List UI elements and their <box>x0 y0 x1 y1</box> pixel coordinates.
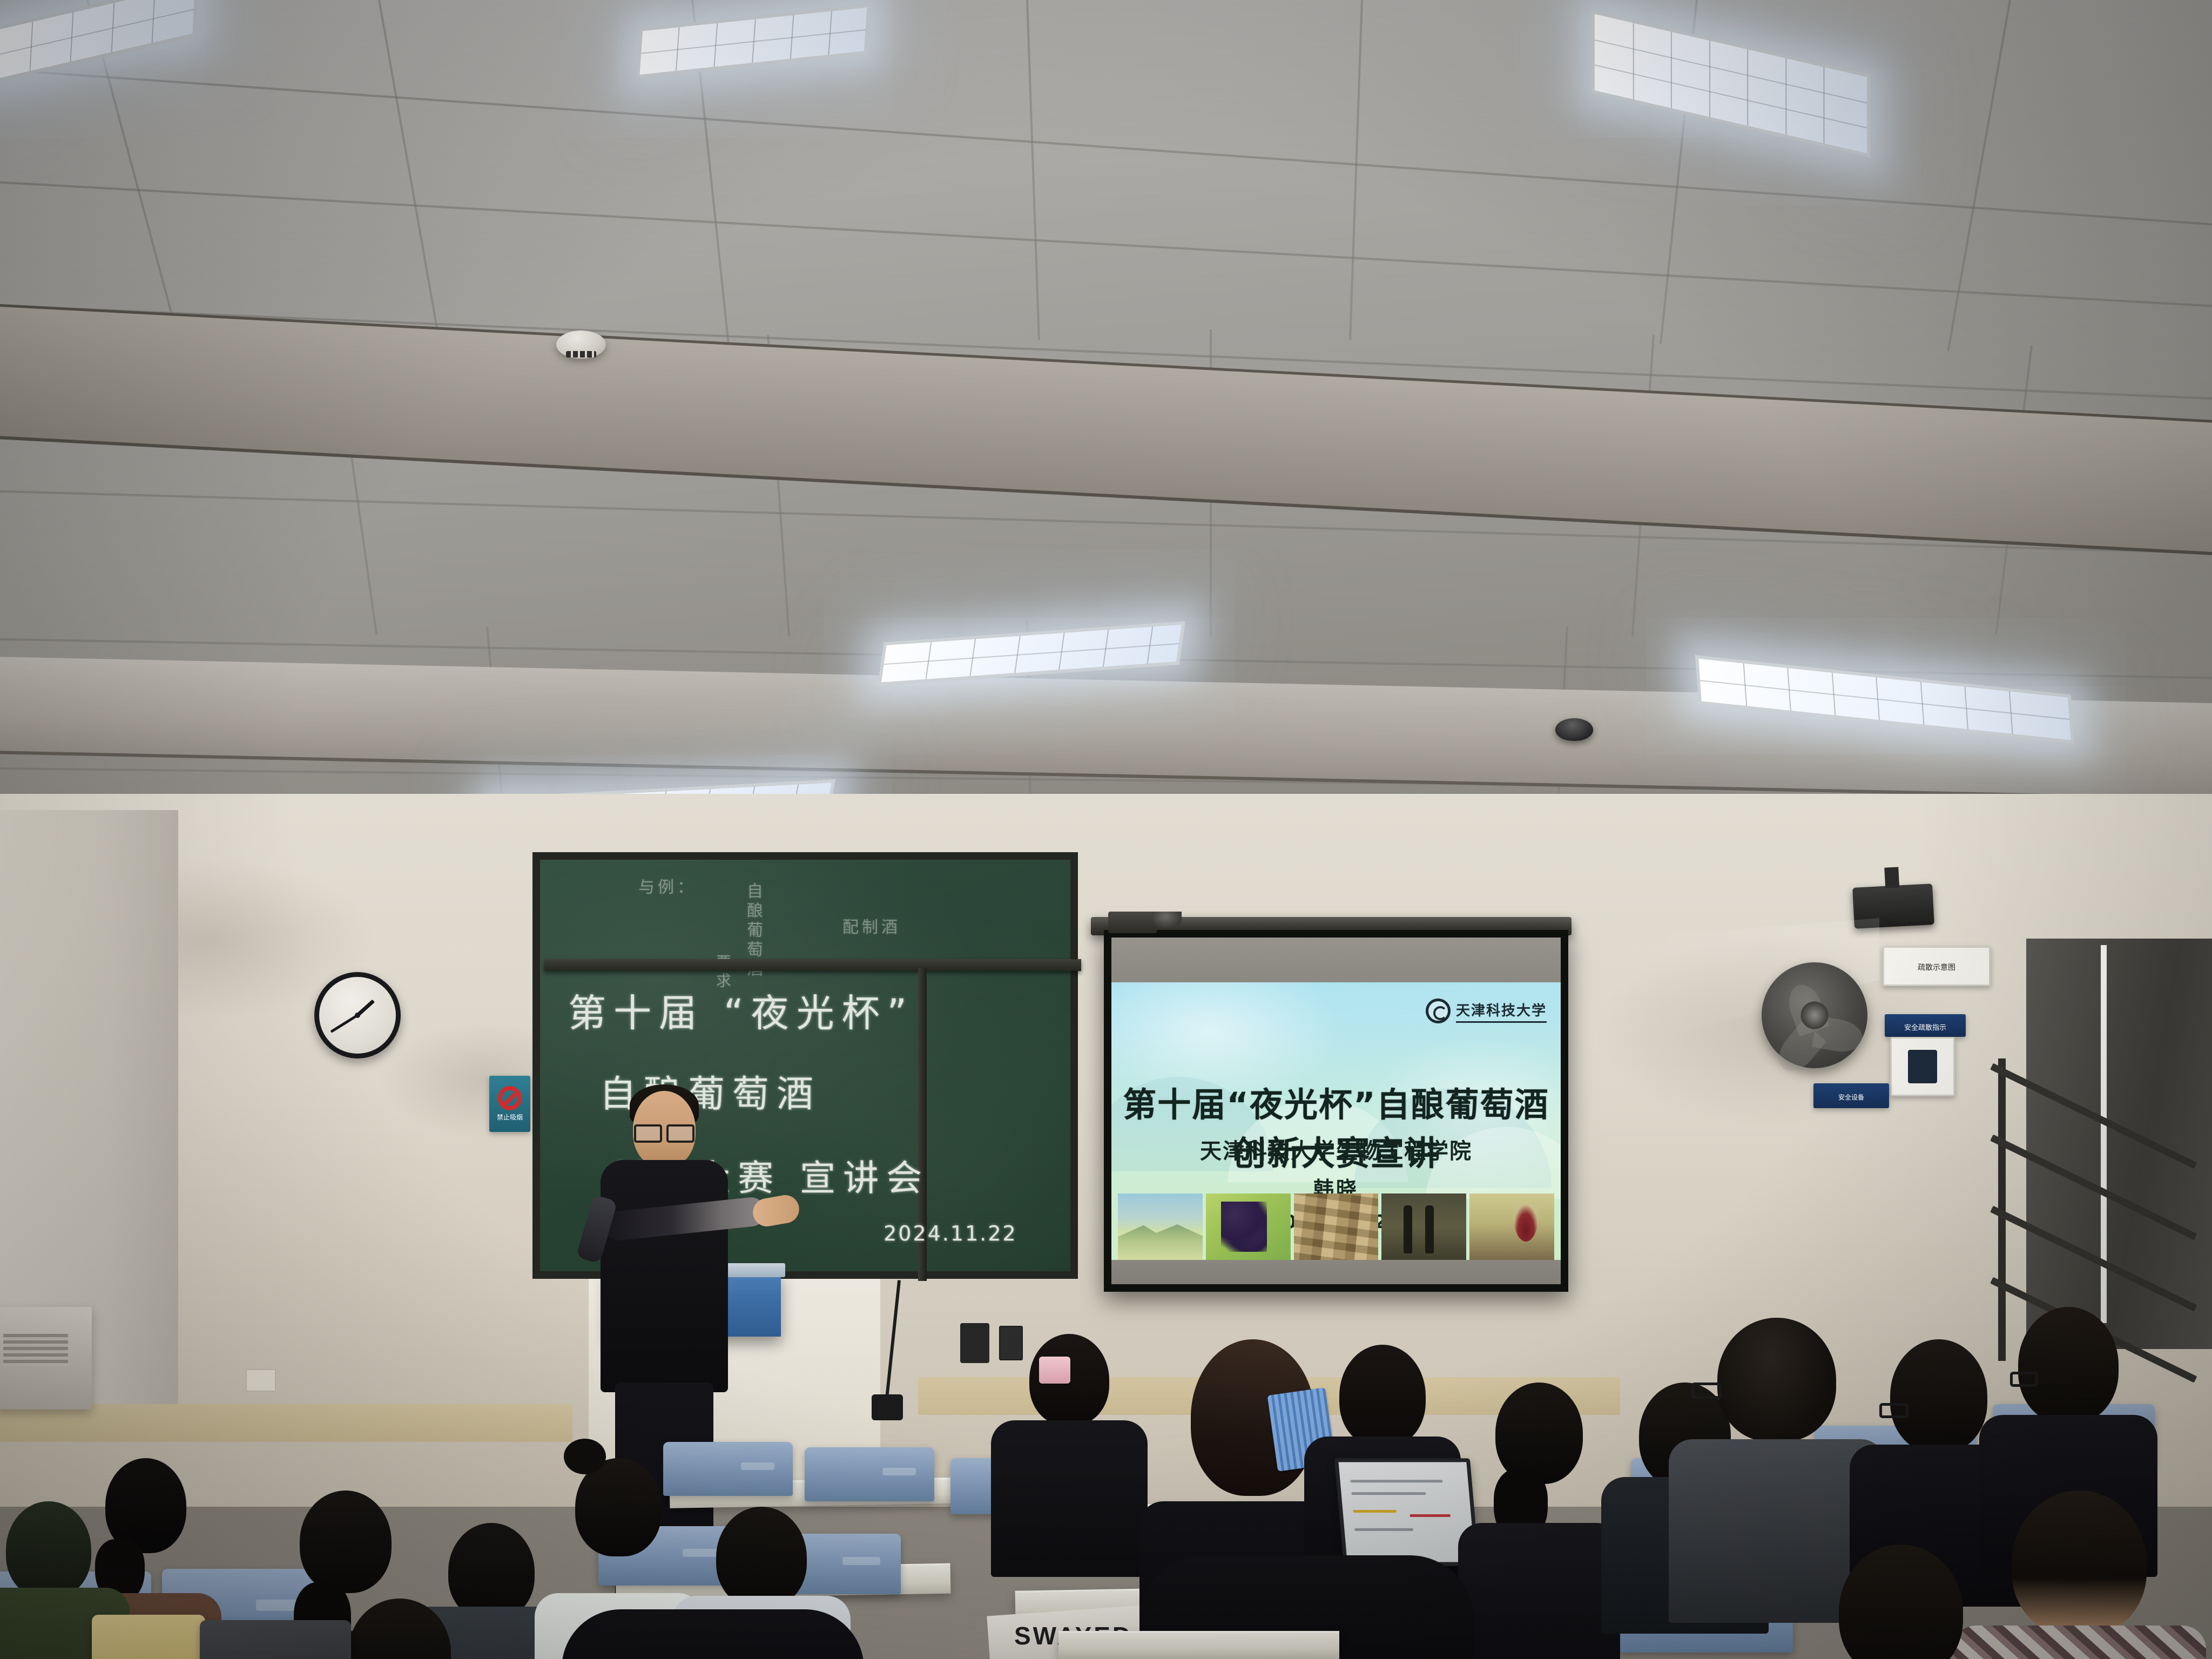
blackboard-upper-note-1: 与例： <box>638 874 697 898</box>
laptop-highlight-line <box>1353 1510 1397 1513</box>
wineglass-photo <box>1469 1193 1554 1260</box>
chair-far-2 <box>805 1447 934 1501</box>
student-head <box>1890 1339 1987 1453</box>
university-logo-mark <box>1426 999 1451 1023</box>
student-body <box>562 1609 864 1659</box>
student-bag-yellow <box>92 1615 205 1659</box>
no-smoking-icon <box>498 1086 522 1110</box>
left-cabinet-vent <box>3 1334 68 1366</box>
student-mid-1 <box>999 1334 1139 1539</box>
glasses-icon-right-1 <box>1691 1382 1722 1399</box>
wall-clock <box>314 972 401 1058</box>
student-mid-4 <box>1469 1382 1609 1566</box>
presenter-torso <box>601 1160 728 1392</box>
student-head <box>300 1491 392 1593</box>
presenter-hand <box>751 1193 801 1229</box>
ceiling-projector <box>1852 884 1934 929</box>
student-head <box>2012 1491 2147 1636</box>
student-head <box>348 1599 451 1659</box>
university-logo: 天津科技大学 <box>1426 999 1547 1023</box>
no-smoking-sign-label: 禁止吸烟 <box>497 1112 523 1122</box>
projector-mount-arm <box>1884 867 1899 888</box>
ceiling-light-2 <box>636 4 871 78</box>
slide-photo-strip <box>1118 1193 1554 1260</box>
student-head <box>2018 1307 2119 1424</box>
student-laptop[interactable] <box>1334 1458 1479 1566</box>
student-head <box>1495 1382 1583 1484</box>
laptop-text-line <box>1350 1480 1442 1483</box>
vineyard-photo <box>1118 1193 1203 1260</box>
barrels-photo <box>1294 1193 1379 1260</box>
laptop-text-line <box>1351 1492 1426 1495</box>
university-logo-text: 天津科技大学 <box>1456 1000 1547 1023</box>
student-head <box>1339 1345 1426 1447</box>
evacuation-plan-sign: 疏散示意图 <box>1883 946 1991 986</box>
evacuation-plan-label: 疏散示意图 <box>1918 962 1955 973</box>
ceiling-dome-sensor-icon <box>1152 912 1182 928</box>
screen-top-margin <box>1111 938 1561 982</box>
wall-outlet <box>246 1369 276 1392</box>
slide-organization: 天津科技大学生物工程学院 <box>1111 1134 1561 1165</box>
student-head <box>1839 1545 1963 1659</box>
glasses-icon-right-3 <box>2010 1372 2038 1387</box>
screen-canvas: 天津科技大学 第十届“夜光杯”自酿葡萄酒创新大赛宣讲 天津科技大学生物工程学院 … <box>1111 938 1561 1284</box>
blackboard-line-1: 第十届 “夜光杯” <box>568 983 914 1037</box>
clock-center-pin <box>355 1013 360 1018</box>
student-hair-bun <box>564 1439 606 1474</box>
ceiling-light-1 <box>0 0 199 85</box>
equipment-label-sign: 安全设备 <box>1813 1083 1889 1108</box>
student-body <box>1458 1523 1620 1659</box>
side-doorway <box>2026 939 2212 1349</box>
cable-plug <box>872 1394 903 1420</box>
ceiling <box>0 0 2212 886</box>
student-front-2 <box>572 1609 853 1659</box>
desk-front-left <box>1058 1631 1339 1659</box>
student-head <box>6 1501 91 1599</box>
ceiling-speaker-box <box>1108 912 1157 933</box>
ceiling-dome-camera-icon <box>1555 718 1593 741</box>
hair-clip-pink <box>1039 1357 1070 1384</box>
blackboard-chalk-rail <box>544 959 1081 971</box>
smoke-detector-icon <box>556 331 606 359</box>
safety-notice-sign: 安全疏散指示 <box>1885 1014 1966 1037</box>
glasses-icon <box>634 1124 694 1139</box>
screen-bottom-margin <box>1111 1260 1561 1284</box>
clock-minute-hand <box>330 1014 358 1033</box>
student-body <box>991 1420 1148 1577</box>
wall-fan <box>1762 962 1867 1068</box>
safety-notice-label: 安全疏散指示 <box>1904 1022 1946 1032</box>
laptop-highlight-line <box>1410 1514 1451 1517</box>
equipment-label-text: 安全设备 <box>1838 1092 1864 1102</box>
glasses-icon-right-2 <box>1879 1403 1908 1418</box>
bottles-photo <box>1381 1193 1466 1260</box>
student-head <box>716 1507 807 1608</box>
wall-jack-box <box>960 1323 989 1363</box>
fire-escape-icon <box>1908 1050 1937 1083</box>
grapes-photo <box>1206 1193 1291 1260</box>
ceiling-light-3 <box>1591 10 1870 157</box>
laptop-text-line <box>1354 1528 1413 1531</box>
student-right-5 <box>1798 1545 2004 1659</box>
blackboard-upper-note-4: 配制酒 <box>842 914 901 938</box>
classroom-photo-scene: 禁止吸烟 与例： 自酿葡萄酒 要求 配制酒 第十届 “夜光杯” 自酿葡萄酒 创新… <box>0 0 2212 1659</box>
projection-screen: 天津科技大学 第十届“夜光杯”自酿葡萄酒创新大赛宣讲 天津科技大学生物工程学院 … <box>1104 930 1568 1292</box>
ceiling-beam-upper <box>0 302 2212 557</box>
slide-content: 天津科技大学 第十届“夜光杯”自酿葡萄酒创新大赛宣讲 天津科技大学生物工程学院 … <box>1111 982 1561 1260</box>
student-right-1 <box>1685 1318 1869 1545</box>
ceiling-light-4 <box>878 621 1185 686</box>
fire-escape-sign <box>1890 1037 1955 1096</box>
student-right-3 <box>1987 1307 2149 1512</box>
blackboard-date: 2024.11.22 <box>884 1222 1017 1245</box>
student-head <box>1717 1318 1836 1442</box>
backpack-black <box>200 1620 351 1659</box>
